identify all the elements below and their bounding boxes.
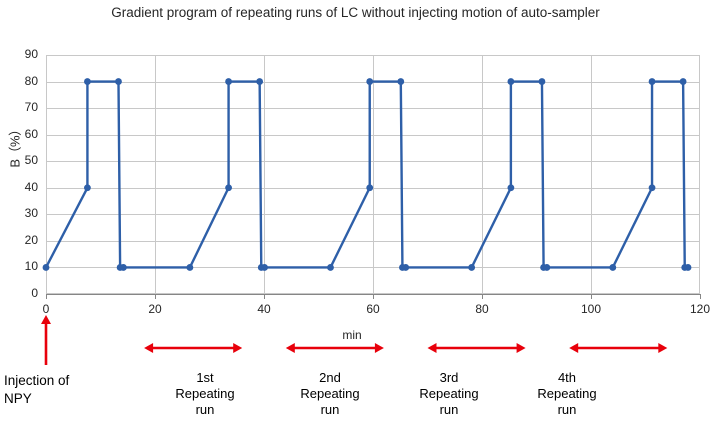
run-3 bbox=[428, 343, 526, 353]
run-3-label-line3: run bbox=[440, 402, 459, 417]
run-2-label-line1: 2nd bbox=[319, 370, 341, 385]
injection-marker bbox=[41, 315, 51, 365]
run-4-label-line1: 4th bbox=[558, 370, 576, 385]
injection-annotation-label: Injection of NPY bbox=[4, 372, 124, 408]
run-1-label: 1st Repeating run bbox=[150, 370, 260, 418]
run-2-label: 2nd Repeating run bbox=[275, 370, 385, 418]
run-3-label-line2: Repeating bbox=[419, 386, 478, 401]
run-1-label-line2: Repeating bbox=[175, 386, 234, 401]
run-2 bbox=[286, 343, 384, 353]
run-4 bbox=[569, 343, 667, 353]
injection-label-line2: NPY bbox=[4, 391, 32, 406]
run-4-label-line2: Repeating bbox=[537, 386, 596, 401]
run-3-label-line1: 3rd bbox=[440, 370, 459, 385]
run-4-label: 4th Repeating run bbox=[512, 370, 622, 418]
run-4-label-line3: run bbox=[558, 402, 577, 417]
annotation-layer bbox=[0, 0, 711, 434]
run-1-label-line1: 1st bbox=[196, 370, 213, 385]
run-1-label-line3: run bbox=[196, 402, 215, 417]
run-3-label: 3rd Repeating run bbox=[394, 370, 504, 418]
chart-figure: Gradient program of repeating runs of LC… bbox=[0, 0, 711, 434]
run-2-label-line3: run bbox=[321, 402, 340, 417]
run-2-label-line2: Repeating bbox=[300, 386, 359, 401]
run-1 bbox=[144, 343, 242, 353]
injection-label-line1: Injection of bbox=[4, 373, 69, 388]
